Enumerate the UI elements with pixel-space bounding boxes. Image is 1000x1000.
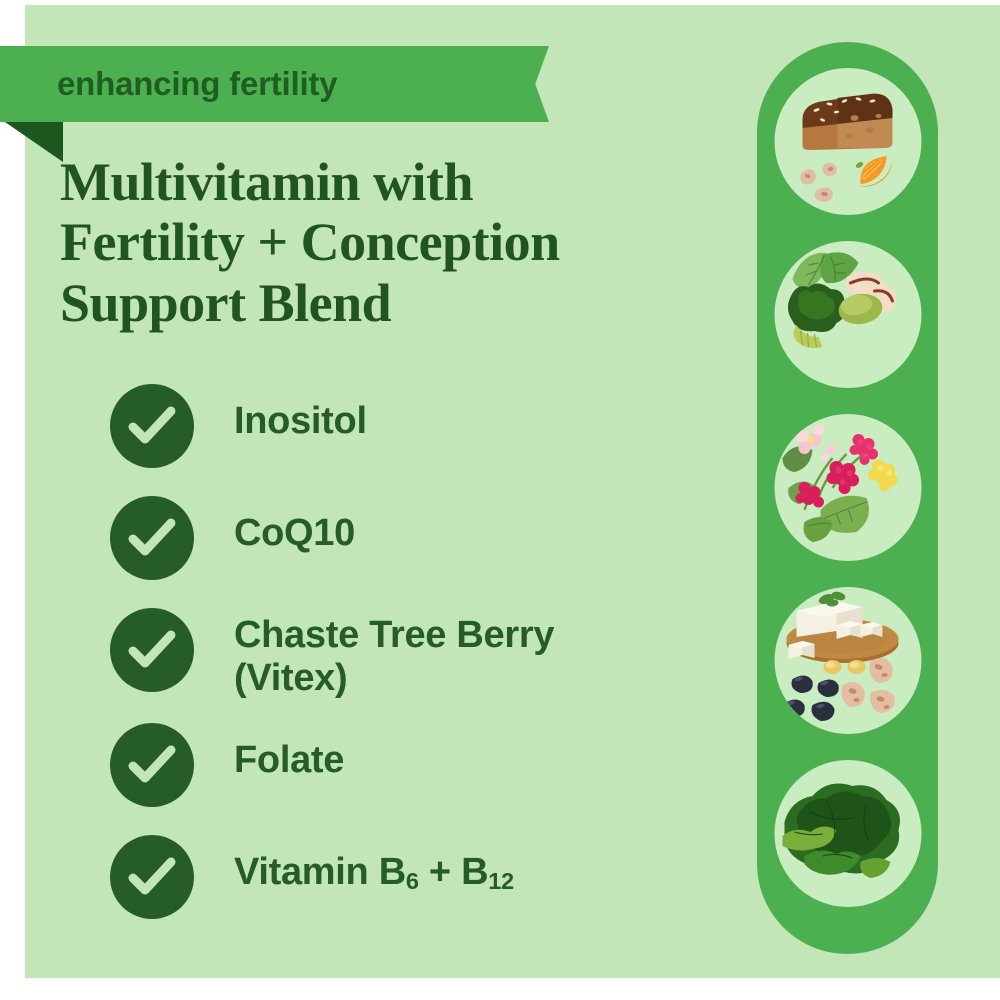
berries-illustration (774, 414, 921, 561)
ribbon-label: enhancing fertility (0, 65, 337, 103)
benefit-label: CoQ10 (194, 494, 355, 555)
list-item: Inositol (110, 382, 730, 468)
b6-subscript: 6 (406, 868, 419, 894)
tofu-beans-illustration (774, 587, 921, 734)
infographic-canvas: enhancing fertility Multivitamin with Fe… (0, 0, 1000, 1000)
list-item: Chaste Tree Berry(Vitex) (110, 606, 730, 699)
check-icon (110, 723, 194, 807)
check-icon (110, 608, 194, 692)
vitamin-b6-text: Vitamin B (234, 851, 406, 893)
food-image-rail (757, 42, 938, 954)
title-line-2: Fertility + Conception (60, 212, 700, 272)
benefit-label: Folate (194, 721, 344, 782)
title-line-3: Support Blend (60, 273, 700, 333)
greens-pistachio-illustration (774, 241, 921, 388)
check-icon (110, 835, 194, 919)
list-item: Vitamin B6 + B12 (110, 833, 730, 919)
benefits-list: Inositol CoQ10 Chaste Tree Berry(Vitex) (110, 382, 730, 945)
benefit-label: Vitamin B6 + B12 (194, 833, 514, 894)
benefit-label: Chaste Tree Berry(Vitex) (194, 606, 554, 699)
bread-beans-orange-illustration (774, 68, 921, 215)
check-icon (110, 384, 194, 468)
title-line-1: Multivitamin with (60, 152, 700, 212)
leafy-greens-illustration (774, 760, 921, 907)
eyebrow-ribbon: enhancing fertility (0, 46, 549, 122)
list-item: Folate (110, 721, 730, 807)
benefit-label-line-2: (Vitex) (234, 657, 347, 699)
plus-separator: + B (419, 851, 489, 893)
benefit-label-line-1: Chaste Tree Berry (234, 614, 554, 656)
list-item: CoQ10 (110, 494, 730, 580)
b12-subscript: 12 (488, 868, 514, 894)
check-icon (110, 496, 194, 580)
benefit-label: Inositol (194, 382, 367, 443)
page-title: Multivitamin with Fertility + Conception… (60, 152, 700, 333)
